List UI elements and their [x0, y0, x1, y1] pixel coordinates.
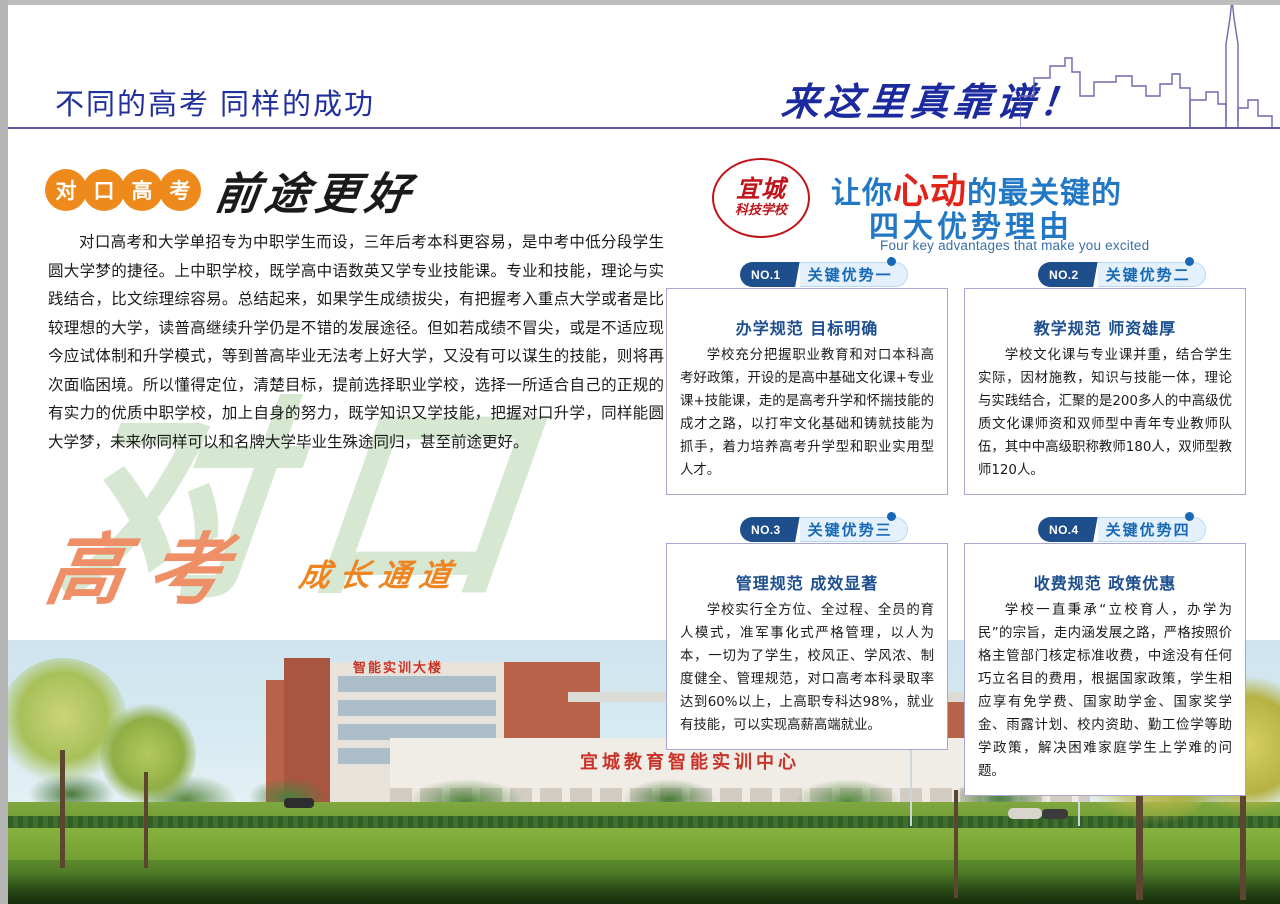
card-title-2: 教学规范 师资雄厚	[978, 315, 1232, 339]
page-left-edge	[0, 0, 8, 904]
tab-slash-icon	[790, 262, 800, 287]
card-title-1: 办学规范 目标明确	[680, 315, 934, 339]
badge-char-3: 考	[160, 170, 200, 210]
card-body-1: 学校充分把握职业教育和对口本科高考好政策，开设的是高中基础文化课+专业课+技能课…	[680, 344, 934, 482]
left-column: 对 口 高 考 前途更好 对口高考和大学单招专为中职学生而设，三年后考本科更容易…	[46, 150, 666, 630]
card-box-3: 管理规范 成效显著 学校实行全方位、全过程、全员的育人模式，准军事化式严格管理，…	[666, 543, 948, 750]
card-box-1: 办学规范 目标明确 学校充分把握职业教育和对口本科高考好政策，开设的是高中基础文…	[666, 288, 948, 495]
tree-canopy-left-2	[100, 702, 196, 806]
tree-trunk-left-1	[60, 750, 65, 868]
car-3	[284, 798, 314, 808]
advantage-card-3: NO.3 关键优势三 管理规范 成效显著 学校实行全方位、全过程、全员的育人模式…	[666, 517, 948, 796]
card-title-4: 收费规范 政策优惠	[978, 570, 1232, 594]
tree-trunk-right-3	[954, 790, 958, 898]
card-box-4: 收费规范 政策优惠 学校一直秉承“立校育人，办学为民”的宗旨，走内涵发展之路，严…	[964, 543, 1246, 796]
poster-page: 不同的高考 同样的成功 来这里真靠谱！ 对 口 高 考 前途更好 对口高考和大学…	[0, 0, 1280, 904]
header: 不同的高考 同样的成功 来这里真靠谱！	[0, 5, 1280, 128]
building-sign-top: 智能实训大楼	[353, 657, 443, 676]
logo-main-text: 宜城	[736, 177, 786, 201]
tab-dot-icon	[887, 257, 896, 266]
page-headline: 不同的高考 同样的成功	[55, 81, 375, 123]
card-box-2: 教学规范 师资雄厚 学校文化课与专业课并重，结合学生实际，因材施教，知识与技能一…	[964, 288, 1246, 495]
card-tab-2: NO.2 关键优势二	[1038, 262, 1206, 287]
logo-sub-text: 科技学校	[735, 203, 787, 219]
card-title-3: 管理规范 成效显著	[680, 570, 934, 594]
card-tab-4: NO.4 关键优势四	[1038, 517, 1206, 542]
card-body-2: 学校文化课与专业课并重，结合学生实际，因材施教，知识与技能一体，理论与实践结合，…	[978, 344, 1232, 482]
advantage-card-1: NO.1 关键优势一 办学规范 目标明确 学校充分把握职业教育和对口本科高考好政…	[666, 262, 948, 495]
card-number-3: NO.3	[740, 517, 790, 542]
tree-trunk-left-2	[144, 772, 148, 868]
card-number-1: NO.1	[740, 262, 790, 287]
advantages-subtitle-en: Four key advantages that make you excite…	[880, 238, 1149, 253]
building-window-band-2	[338, 700, 496, 716]
car-1	[1008, 808, 1042, 819]
tab-slash-icon	[1088, 517, 1098, 542]
duikou-gaokao-title: 对 口 高 考 前途更好	[46, 158, 416, 222]
school-logo: 宜城 科技学校	[712, 158, 810, 238]
tab-slash-icon	[1088, 262, 1098, 287]
card-number-4: NO.4	[1038, 517, 1088, 542]
badge-char-1: 口	[84, 170, 124, 210]
card-number-2: NO.2	[1038, 262, 1088, 287]
tab-dot-icon	[1185, 512, 1194, 521]
card-body-3: 学校实行全方位、全过程、全员的育人模式，准军事化式严格管理，以人为本，一切为了学…	[680, 599, 934, 737]
photo-lawn-shadow	[8, 872, 1280, 904]
car-2	[1042, 809, 1068, 819]
card-body-4: 学校一直秉承“立校育人，办学为民”的宗旨，走内涵发展之路，严格按照价格主管部门核…	[978, 599, 1232, 783]
badge-char-2: 高	[122, 170, 162, 210]
advantage-card-4: NO.4 关键优势四 收费规范 政策优惠 学校一直秉承“立校育人，办学为民”的宗…	[964, 517, 1246, 796]
header-divider	[8, 127, 1280, 129]
intro-paragraph: 对口高考和大学单招专为中职学生而设，三年后考本科更容易，是中考中低分段学生圆大学…	[48, 228, 664, 456]
cursive-subtitle: 前途更好	[212, 158, 421, 222]
card-tab-3: NO.3 关键优势三	[740, 517, 908, 542]
card-tab-1: NO.1 关键优势一	[740, 262, 908, 287]
right-column: 宜城 科技学校 让你心动的最关键的 四大优势理由 Four key advant…	[666, 150, 1246, 630]
tab-dot-icon	[1185, 257, 1194, 266]
header-slogan: 来这里真靠谱！	[779, 71, 1086, 126]
building-window-band-1	[338, 676, 496, 692]
tree-trunk-right-2	[1240, 780, 1246, 900]
tab-dot-icon	[887, 512, 896, 521]
tab-slash-icon	[790, 517, 800, 542]
advantage-cards: NO.1 关键优势一 办学规范 目标明确 学校充分把握职业教育和对口本科高考好政…	[666, 262, 1246, 796]
page-top-edge	[0, 0, 1280, 5]
advantage-card-2: NO.2 关键优势二 教学规范 师资雄厚 学校文化课与专业课并重，结合学生实际，…	[964, 262, 1246, 495]
badge-char-0: 对	[46, 170, 86, 210]
